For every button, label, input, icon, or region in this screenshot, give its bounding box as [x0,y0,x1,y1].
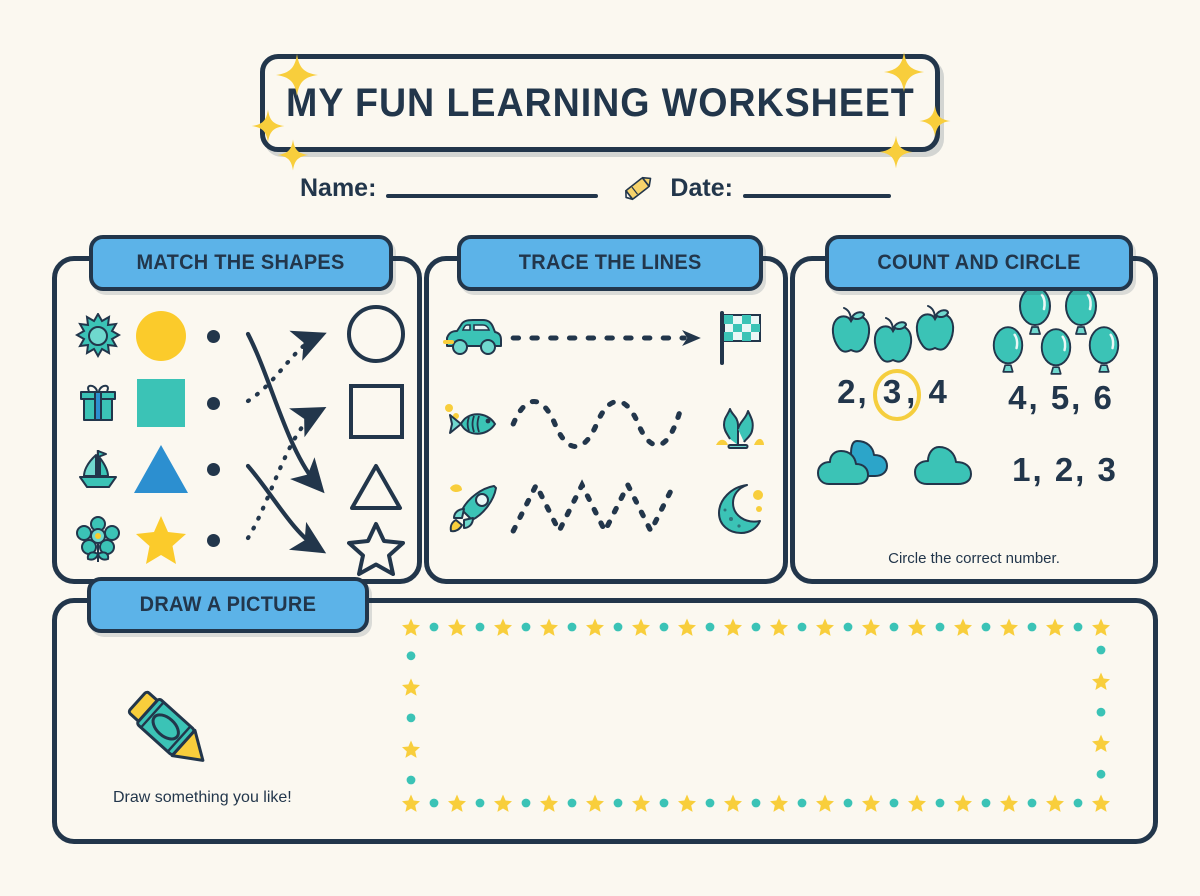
star-icon [770,795,788,812]
shape-star-yellow [125,512,197,568]
trace-line-zigzag[interactable] [507,473,705,543]
dot-icon [936,623,945,632]
star-icon [586,619,604,636]
star-icon [448,795,466,812]
dot-icon [890,799,899,808]
count-option-selected[interactable]: 3 [880,373,906,411]
panel-match-the-shapes: MATCH THE SHAPES [52,256,422,584]
panel-title-badge-count: COUNT AND CIRCLE [825,235,1133,291]
balloon-icon-group [977,285,1145,377]
star-icon [632,619,650,636]
dot-icon [1097,646,1106,655]
page-title: MY FUN LEARNING WORKSHEET [286,81,915,126]
dot-icon [407,651,416,660]
shape-circle-yellow [125,308,197,364]
count-option[interactable]: 2 [1055,451,1075,488]
apple-icon [912,303,958,357]
star-icon [770,619,788,636]
dot-icon [936,799,945,808]
dot-icon [798,799,807,808]
star-icon [1092,795,1110,812]
dot-icon [752,799,761,808]
title-frame: MY FUN LEARNING WORKSHEET [260,54,940,152]
star-icon [1092,735,1110,752]
sailboat-icon [71,441,125,497]
dot-icon [568,623,577,632]
match-connector-dot[interactable] [207,463,220,476]
star-icon [1046,619,1064,636]
balloon-icon [1037,327,1075,377]
flower-icon [71,512,125,568]
panel-title-badge-match: MATCH THE SHAPES [89,235,393,291]
dot-icon [522,623,531,632]
star-icon [540,795,558,812]
star-icon [678,619,696,636]
crayon-icon [119,685,223,781]
sun-icon [71,308,125,364]
dot-icon [982,623,991,632]
star-icon [586,795,604,812]
count-option[interactable]: 2 [837,373,857,410]
dot-icon [568,799,577,808]
count-option[interactable]: 4 [1008,379,1028,416]
count-option[interactable]: 3 [1098,451,1118,488]
count-option[interactable]: 1 [1012,451,1032,488]
dot-icon [430,799,439,808]
panel-draw-a-picture: DRAW A PICTURE Draw something you like! [52,598,1158,844]
count-option[interactable]: 5 [1051,379,1071,416]
drawing-area-border [397,615,1115,815]
star-icon [540,619,558,636]
dot-icon [1097,708,1106,717]
star-icon [862,795,880,812]
dot-icon [844,623,853,632]
dot-icon [706,799,715,808]
balloon-icon [989,325,1027,375]
worksheet-title-block: MY FUN LEARNING WORKSHEET [240,46,960,156]
dot-icon [476,623,485,632]
trace-line-wave[interactable] [507,389,705,459]
coral-icon [705,392,771,456]
star-icon [1092,619,1110,636]
worksheet-page: MY FUN LEARNING WORKSHEET Name: [0,0,1200,896]
star-icon [816,619,834,636]
count-option[interactable]: 6 [1094,379,1114,416]
trace-row[interactable] [441,387,771,461]
dot-icon [706,623,715,632]
dot-icon [982,799,991,808]
name-input[interactable] [386,194,598,198]
dot-icon [476,799,485,808]
dot-icon [407,714,416,723]
star-icon [448,619,466,636]
dot-icon [1074,623,1083,632]
apple-icon-group [809,297,977,369]
panel-body-count: 2, 3, 4 [795,261,1153,579]
match-connector-dot[interactable] [207,534,220,547]
star-icon [816,795,834,812]
count-group-apples[interactable]: 2, 3, 4 [809,297,977,411]
trace-line-straight[interactable] [507,303,705,373]
shape-triangle-blue [125,441,197,497]
match-connector-dot[interactable] [207,397,220,410]
dot-icon [407,776,416,785]
drawing-area[interactable] [397,615,1115,815]
panel-title-badge-trace: TRACE THE LINES [457,235,763,291]
panel-body-trace [429,261,783,579]
panel-title-count: COUNT AND CIRCLE [877,251,1080,275]
count-group-clouds[interactable] [811,429,977,491]
date-input[interactable] [743,194,891,198]
checkered-flag-icon [705,306,771,370]
count-group-balloons[interactable]: 4, 5, 6 [977,285,1145,417]
star-icon [954,795,972,812]
gift-icon [71,375,125,431]
shape-square-teal [125,375,197,431]
dot-icon [890,623,899,632]
trace-row[interactable] [441,301,771,375]
count-caption: Circle the correct number. [795,550,1153,567]
star-icon [1046,795,1064,812]
star-icon [862,619,880,636]
star-icon [724,619,742,636]
star-icon [402,740,420,757]
panel-count-and-circle: COUNT AND CIRCLE [790,256,1158,584]
panel-body-draw: Draw something you like! [57,603,1153,839]
panel-title-draw: DRAW A PICTURE [140,593,317,617]
target-shape-square[interactable] [345,382,407,440]
dot-icon [614,799,623,808]
dot-icon [844,799,853,808]
count-options-clouds[interactable]: 1, 2, 3 [985,451,1145,489]
name-date-row: Name: Date: [300,168,900,208]
star-icon [402,795,420,812]
name-label: Name: [300,174,376,203]
dot-icon [1028,623,1037,632]
star-icon [1000,795,1018,812]
cloud-icon [913,443,989,487]
pencil-icon [622,173,656,203]
apple-icon [870,315,916,369]
panel-body-match [57,261,417,579]
count-options-apples[interactable]: 2, 3, 4 [809,373,977,411]
panel-title-match: MATCH THE SHAPES [137,251,345,275]
star-icon [678,795,696,812]
star-icon [402,678,420,695]
cloud-icon-group [811,429,977,491]
moon-icon [705,476,771,540]
star-icon [494,619,512,636]
star-icon [402,619,420,636]
rocket-icon [441,476,507,540]
panel-title-trace: TRACE THE LINES [519,251,702,275]
panel-trace-the-lines: TRACE THE LINES [424,256,788,584]
dot-icon [1028,799,1037,808]
star-icon [1000,619,1018,636]
draw-caption: Draw something you like! [113,789,292,807]
dot-icon [430,623,439,632]
count-options-balloons[interactable]: 4, 5, 6 [977,379,1145,417]
dot-icon [660,799,669,808]
target-shape-triangle[interactable] [345,458,407,516]
star-icon [954,619,972,636]
count-option[interactable]: 4 [929,373,949,410]
star-icon [908,795,926,812]
star-icon [494,795,512,812]
match-connector-dot[interactable] [207,330,220,343]
dot-icon [1074,799,1083,808]
target-shape-circle[interactable] [345,305,407,363]
dot-icon [660,623,669,632]
panel-title-badge-draw: DRAW A PICTURE [87,577,369,633]
date-label: Date: [670,174,733,203]
star-icon [724,795,742,812]
dot-icon [752,623,761,632]
trace-row[interactable] [441,471,771,545]
fish-icon [441,392,507,456]
apple-icon [828,305,874,359]
dot-icon [1097,770,1106,779]
target-shape-star[interactable] [345,520,407,578]
star-icon [1092,673,1110,690]
dot-icon [522,799,531,808]
star-icon [632,795,650,812]
dot-icon [614,623,623,632]
car-icon [441,306,507,370]
star-icon [908,619,926,636]
balloon-icon [1085,325,1123,375]
dot-icon [798,623,807,632]
cloud-icon [817,431,913,487]
